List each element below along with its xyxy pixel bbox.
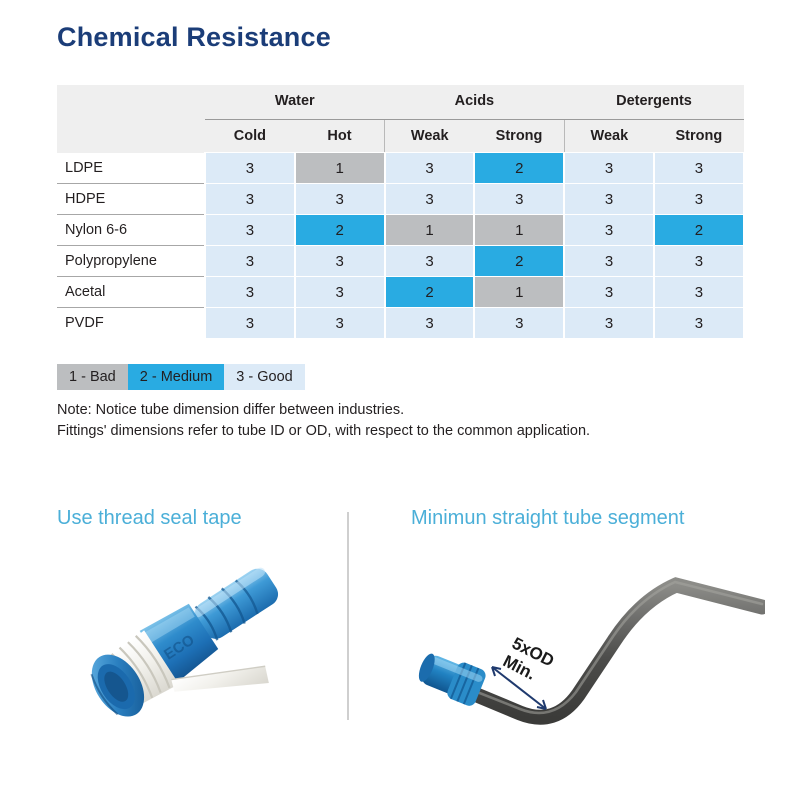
- photo-straight-tube-segment: 5xOD Min.: [400, 545, 765, 730]
- rating-cell: 3: [205, 308, 295, 339]
- note-line-1: Note: Notice tube dimension differ betwe…: [57, 400, 787, 421]
- column-header-acids-weak: Weak: [385, 120, 475, 153]
- rating-cell: 3: [564, 215, 654, 246]
- rating-cell: 3: [205, 184, 295, 215]
- rating-cell: 3: [564, 308, 654, 339]
- column-header-detergents-weak: Weak: [564, 120, 654, 153]
- rating-cell: 3: [295, 277, 385, 308]
- column-header-detergents-strong: Strong: [654, 120, 744, 153]
- legend-chip-good: 3 - Good: [224, 364, 304, 390]
- column-group-acids: Acids: [385, 85, 565, 120]
- column-group-water: Water: [205, 85, 385, 120]
- header-corner-cell: [57, 85, 205, 120]
- table-group-header-row: Water Acids Detergents: [57, 85, 744, 120]
- rating-cell: 3: [564, 153, 654, 184]
- note-line-2: Fittings' dimensions refer to tube ID or…: [57, 421, 787, 442]
- rating-cell: 3: [654, 153, 744, 184]
- rating-cell: 3: [385, 184, 475, 215]
- material-label: Polypropylene: [57, 246, 205, 277]
- rating-cell: 3: [564, 184, 654, 215]
- table-row: LDPE313233: [57, 153, 744, 184]
- rating-cell: 1: [474, 215, 564, 246]
- rating-cell: 3: [205, 246, 295, 277]
- material-label: LDPE: [57, 153, 205, 184]
- column-group-detergents: Detergents: [564, 85, 744, 120]
- table-row: Polypropylene333233: [57, 246, 744, 277]
- section-heading-straight-tube-segment: Minimun straight tube segment: [411, 507, 684, 530]
- rating-cell: 2: [295, 215, 385, 246]
- column-header-acids-strong: Strong: [474, 120, 564, 153]
- photo-thread-seal-tape-fitting: ECO: [60, 548, 345, 728]
- material-label: PVDF: [57, 308, 205, 339]
- table-row: Nylon 6-6321132: [57, 215, 744, 246]
- note-block: Note: Notice tube dimension differ betwe…: [57, 400, 787, 442]
- column-header-water-hot: Hot: [295, 120, 385, 153]
- rating-cell: 2: [654, 215, 744, 246]
- rating-cell: 3: [474, 184, 564, 215]
- table-header: Water Acids Detergents Cold Hot Weak Str…: [57, 85, 744, 153]
- section-divider: [347, 512, 349, 720]
- rating-cell: 3: [385, 246, 475, 277]
- legend-chip-medium: 2 - Medium: [128, 364, 225, 390]
- rating-cell: 3: [205, 215, 295, 246]
- section-heading-thread-seal-tape: Use thread seal tape: [57, 507, 242, 530]
- rating-cell: 3: [564, 277, 654, 308]
- chemical-resistance-table-wrapper: Water Acids Detergents Cold Hot Weak Str…: [57, 85, 744, 339]
- column-header-water-cold: Cold: [205, 120, 295, 153]
- rating-cell: 1: [474, 277, 564, 308]
- rating-cell: 3: [654, 308, 744, 339]
- rating-cell: 1: [295, 153, 385, 184]
- rating-cell: 3: [654, 246, 744, 277]
- table-row: HDPE333333: [57, 184, 744, 215]
- rating-cell: 3: [654, 277, 744, 308]
- rating-legend: 1 - Bad2 - Medium3 - Good: [57, 364, 305, 390]
- tube-fitting: [414, 648, 488, 708]
- material-label: Nylon 6-6: [57, 215, 205, 246]
- rating-cell: 3: [564, 246, 654, 277]
- rating-cell: 3: [205, 153, 295, 184]
- material-label: Acetal: [57, 277, 205, 308]
- rating-cell: 3: [295, 184, 385, 215]
- header-corner-cell-lower: [57, 120, 205, 153]
- table-subheader-row: Cold Hot Weak Strong Weak Strong: [57, 120, 744, 153]
- table-row: PVDF333333: [57, 308, 744, 339]
- table-body: LDPE313233HDPE333333Nylon 6-6321132Polyp…: [57, 153, 744, 339]
- rating-cell: 3: [474, 308, 564, 339]
- table-row: Acetal332133: [57, 277, 744, 308]
- rating-cell: 3: [295, 308, 385, 339]
- page-title: Chemical Resistance: [57, 22, 331, 53]
- rating-cell: 1: [385, 215, 475, 246]
- rating-cell: 3: [654, 184, 744, 215]
- rating-cell: 2: [474, 153, 564, 184]
- rating-cell: 3: [385, 308, 475, 339]
- rating-cell: 3: [205, 277, 295, 308]
- legend-chip-bad: 1 - Bad: [57, 364, 128, 390]
- rating-cell: 3: [295, 246, 385, 277]
- rating-cell: 2: [474, 246, 564, 277]
- rating-cell: 3: [385, 153, 475, 184]
- material-label: HDPE: [57, 184, 205, 215]
- chemical-resistance-table: Water Acids Detergents Cold Hot Weak Str…: [57, 85, 745, 339]
- rating-cell: 2: [385, 277, 475, 308]
